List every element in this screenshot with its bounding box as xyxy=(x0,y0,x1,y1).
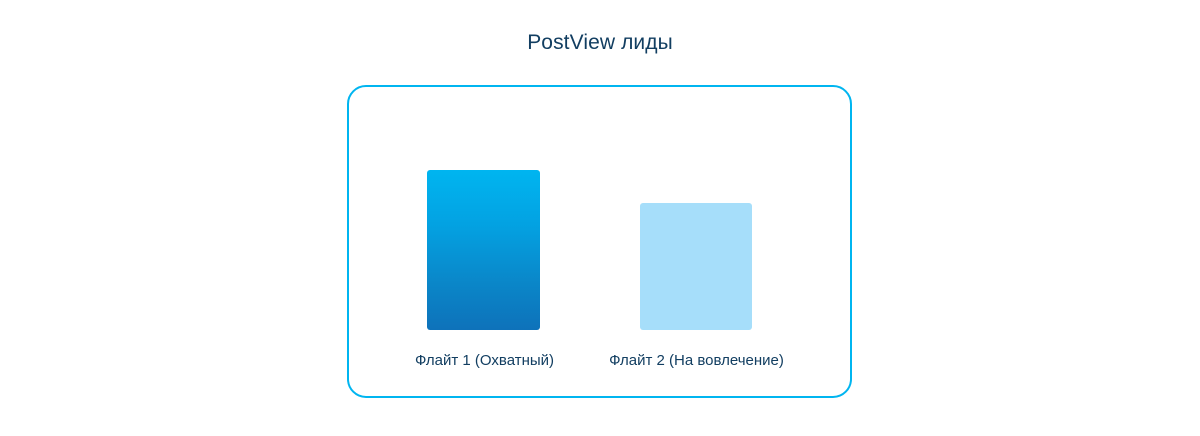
category-label-flight-2: Флайт 2 (На вовлечение) xyxy=(592,351,801,371)
chart-container: PostView лиды Флайт 1 (Охватный) Флайт 2… xyxy=(0,0,1200,436)
category-label-flight-1: Флайт 1 (Охватный) xyxy=(394,351,575,371)
chart-title: PostView лиды xyxy=(0,29,1200,57)
bar-flight-1[interactable] xyxy=(427,170,540,330)
bar-flight-2[interactable] xyxy=(640,203,752,330)
